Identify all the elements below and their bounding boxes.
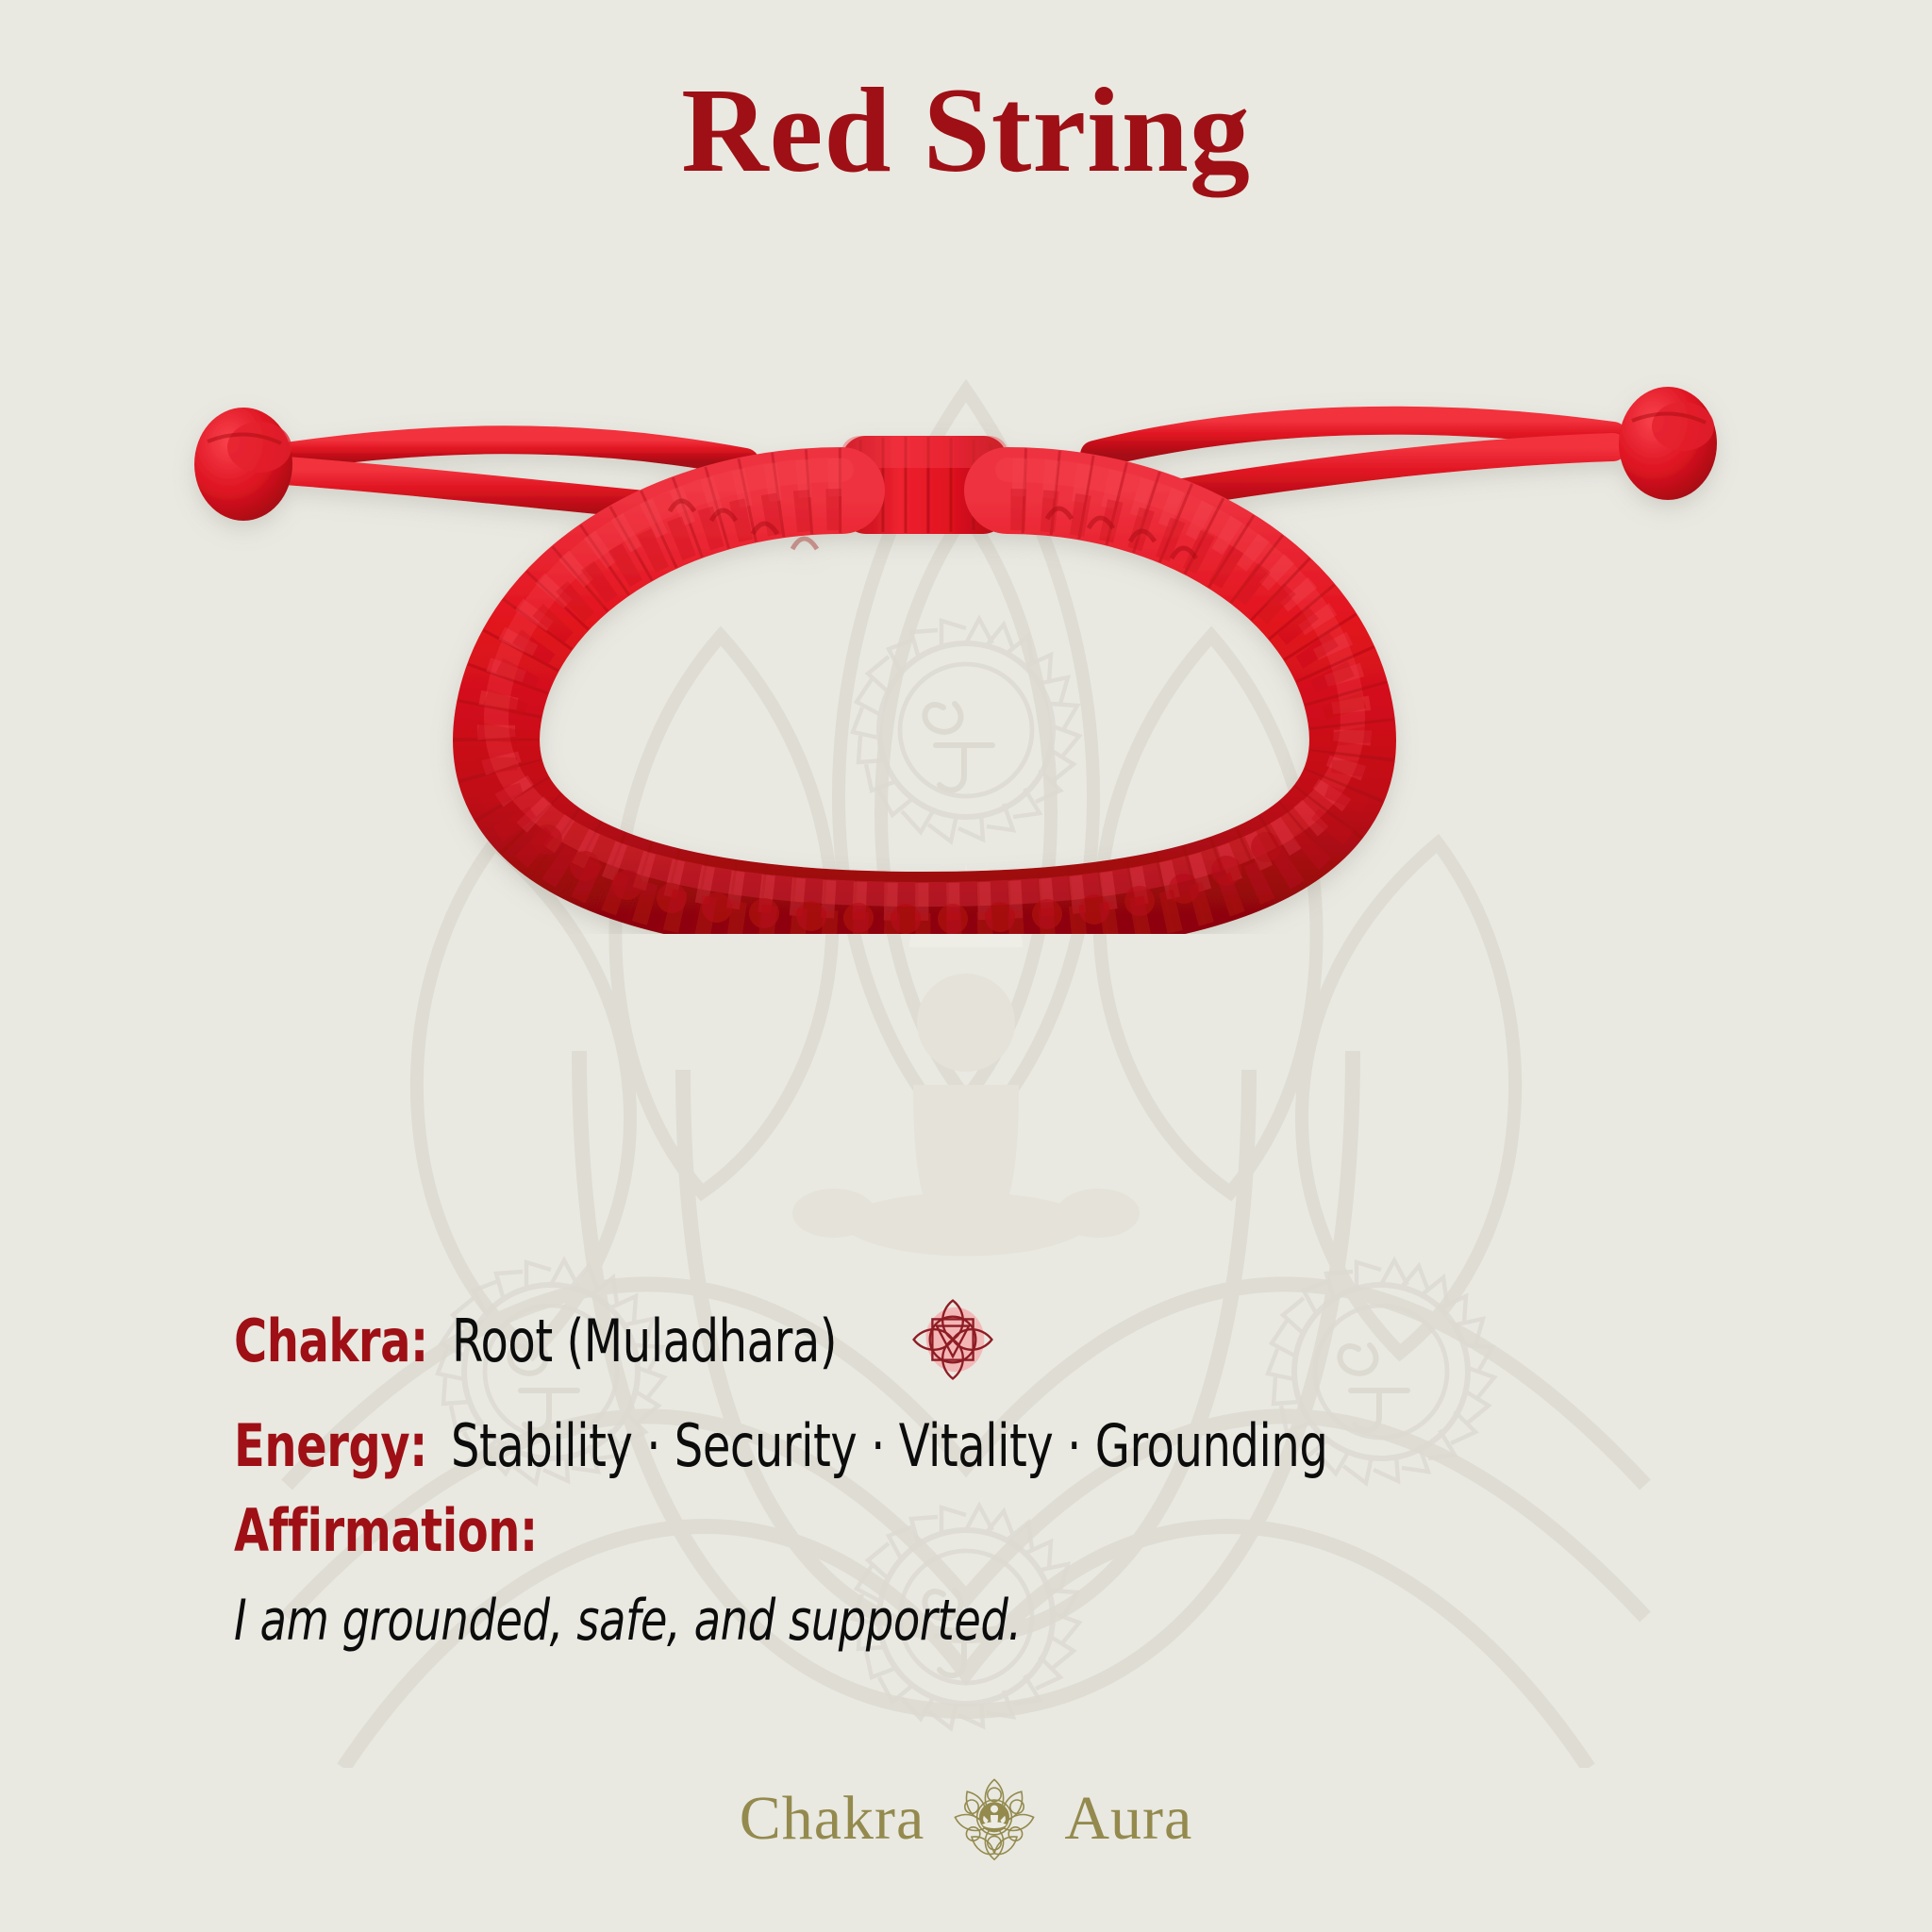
page-title: Red String [0,55,1932,206]
product-image-red-string-bracelet [142,349,1802,934]
info-block: Chakra: Root (Muladhara) Energy: Stabili… [234,1292,1762,1649]
brand-word-chakra: Chakra [740,1788,925,1850]
chakra-value: Root (Muladhara) [452,1312,837,1371]
lotus-mandala-logo-icon [949,1774,1040,1864]
affirmation-text: I am grounded, safe, and supported. [234,1592,1548,1649]
chakra-label: Chakra: [234,1312,428,1371]
energy-row: Energy: Stability · Security · Vitality … [234,1417,1762,1475]
muladhara-chakra-symbol-icon [902,1289,1004,1391]
brand-footer: Chakra [0,1774,1932,1864]
affirmation-label: Affirmation: [234,1502,538,1560]
affirmation-row: Affirmation: [234,1502,1762,1560]
chakra-row: Chakra: Root (Muladhara) [234,1292,1762,1391]
energy-label: Energy: [234,1417,427,1475]
energy-value: Stability · Security · Vitality · Ground… [451,1417,1327,1475]
brand-word-aura: Aura [1064,1788,1192,1850]
